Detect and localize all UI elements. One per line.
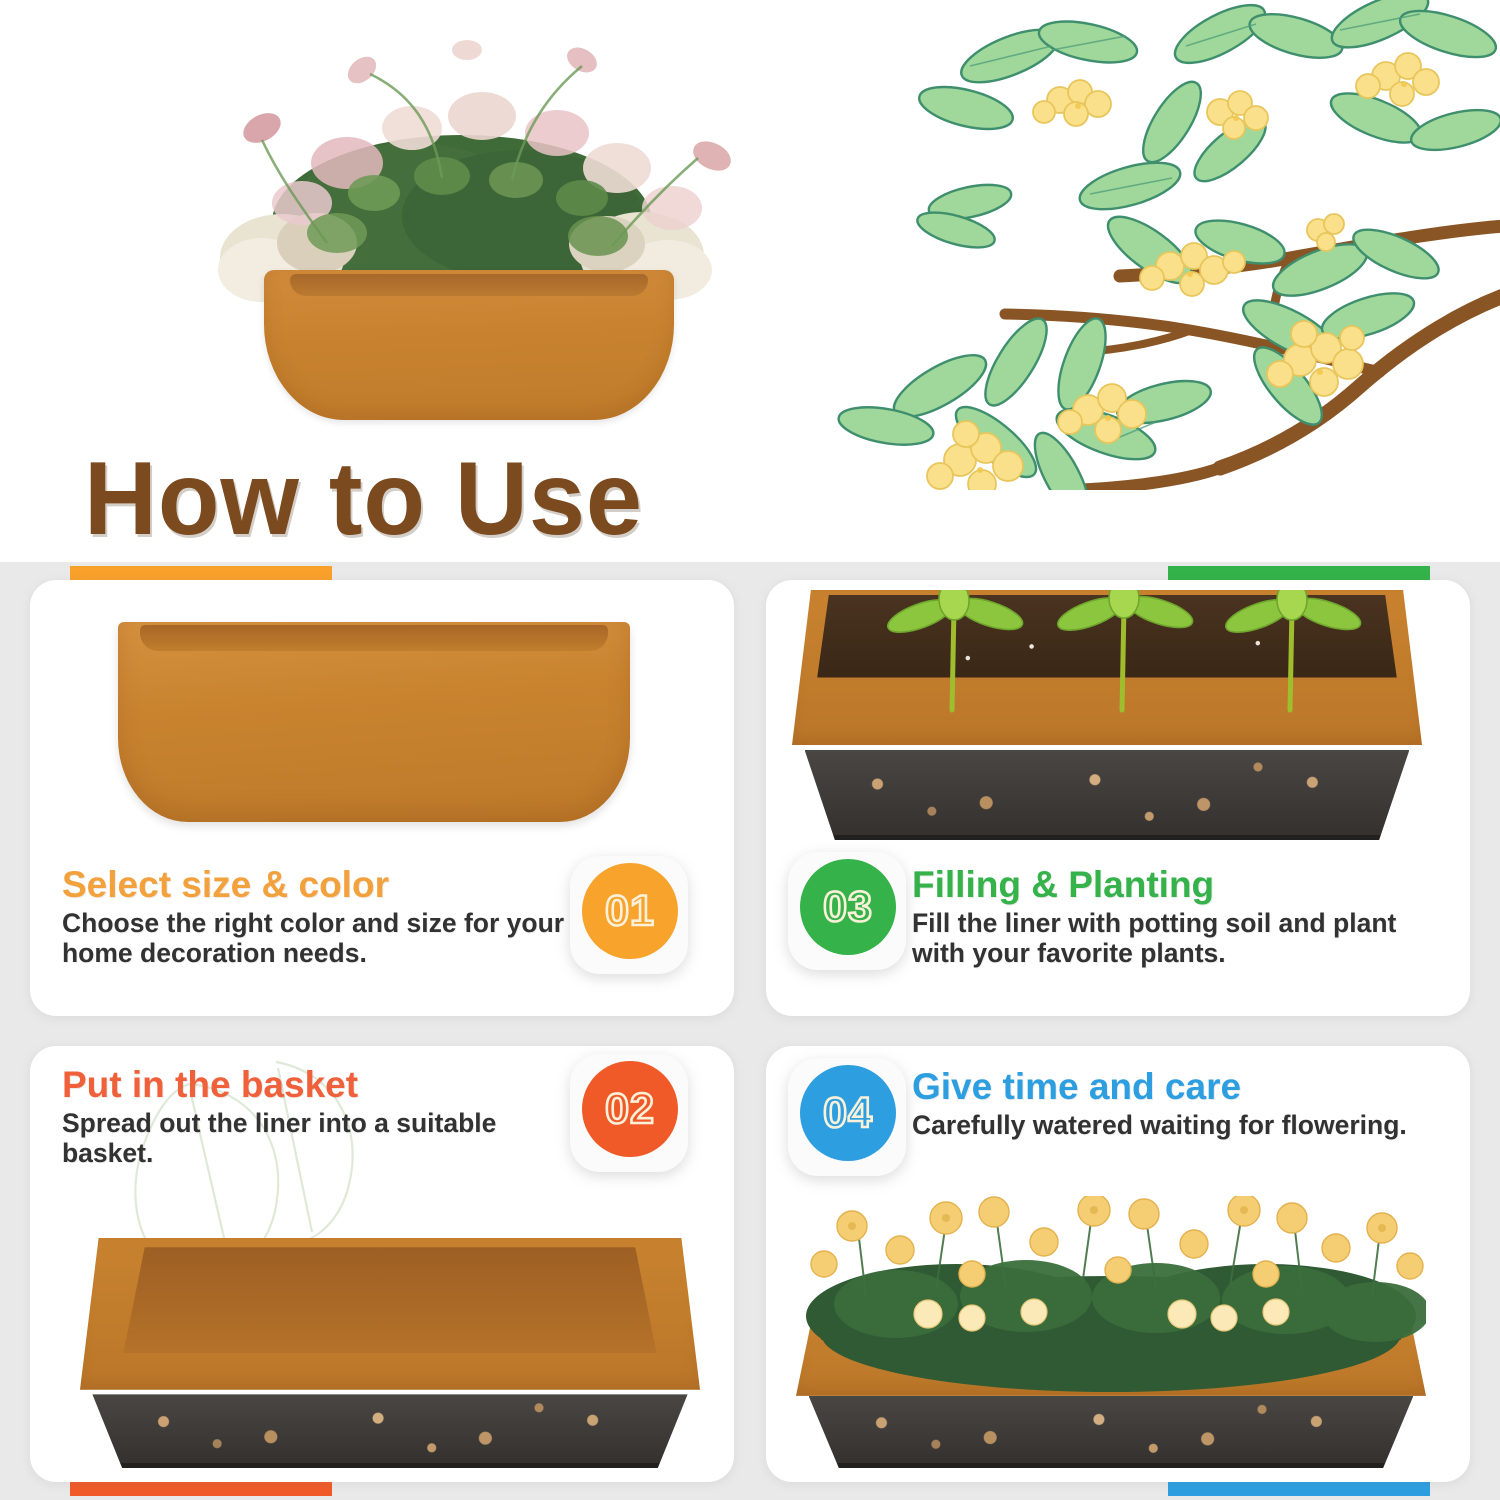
step-03-badge: 03 — [788, 852, 912, 976]
step-03-description: Fill the liner with potting soil and pla… — [912, 909, 1442, 968]
step-card-03[interactable]: 03 Filling & Planting Fill the liner wit… — [766, 580, 1470, 1016]
step-02-text: Put in the basket Spread out the liner i… — [62, 1066, 582, 1169]
hero-planter-image — [112, 8, 812, 438]
step-card-02[interactable]: Put in the basket Spread out the liner i… — [30, 1046, 734, 1482]
step-02-tray — [80, 1238, 700, 1468]
step-01-text: Select size & color Choose the right col… — [62, 866, 582, 969]
step-04-badge: 04 — [788, 1058, 912, 1182]
step-04-description: Carefully watered waiting for flowering. — [912, 1111, 1452, 1141]
step-04-product-image — [796, 1196, 1426, 1468]
step-02-product-image — [80, 1238, 700, 1468]
step-01-product-image — [118, 622, 630, 822]
step-02-description: Spread out the liner into a suitable bas… — [62, 1109, 582, 1168]
step-03-text: Filling & Planting Fill the liner with p… — [912, 866, 1442, 969]
step-04-text: Give time and care Carefully watered wai… — [912, 1068, 1452, 1141]
yellow-roses-illustration — [796, 1196, 1426, 1468]
step-02-badge: 02 — [570, 1054, 694, 1178]
hero-band: How to Use — [0, 0, 1500, 562]
steps-panel: Select size & color Choose the right col… — [0, 562, 1500, 1500]
step-card-04[interactable]: 04 Give time and care Carefully watered … — [766, 1046, 1470, 1482]
step-03-title: Filling & Planting — [912, 866, 1442, 904]
step-01-title: Select size & color — [62, 866, 582, 904]
step-04-badge-number: 04 — [800, 1065, 896, 1161]
step-04-title: Give time and care — [912, 1068, 1452, 1106]
step-03-badge-number: 03 — [800, 859, 896, 955]
step-01-description: Choose the right color and size for your… — [62, 909, 582, 968]
step-02-title: Put in the basket — [62, 1066, 582, 1104]
step-02-badge-number: 02 — [582, 1061, 678, 1157]
steps-grid: Select size & color Choose the right col… — [30, 580, 1470, 1482]
step-card-01[interactable]: Select size & color Choose the right col… — [30, 580, 734, 1016]
step-01-badge: 01 — [570, 856, 694, 980]
hero-planter-pot — [264, 270, 674, 420]
page-title: How to Use — [84, 447, 643, 551]
step-01-badge-number: 01 — [582, 863, 678, 959]
step-03-product-image — [792, 590, 1422, 840]
osmanthus-branch-illustration — [820, 0, 1500, 490]
seedlings-illustration — [792, 590, 1422, 840]
